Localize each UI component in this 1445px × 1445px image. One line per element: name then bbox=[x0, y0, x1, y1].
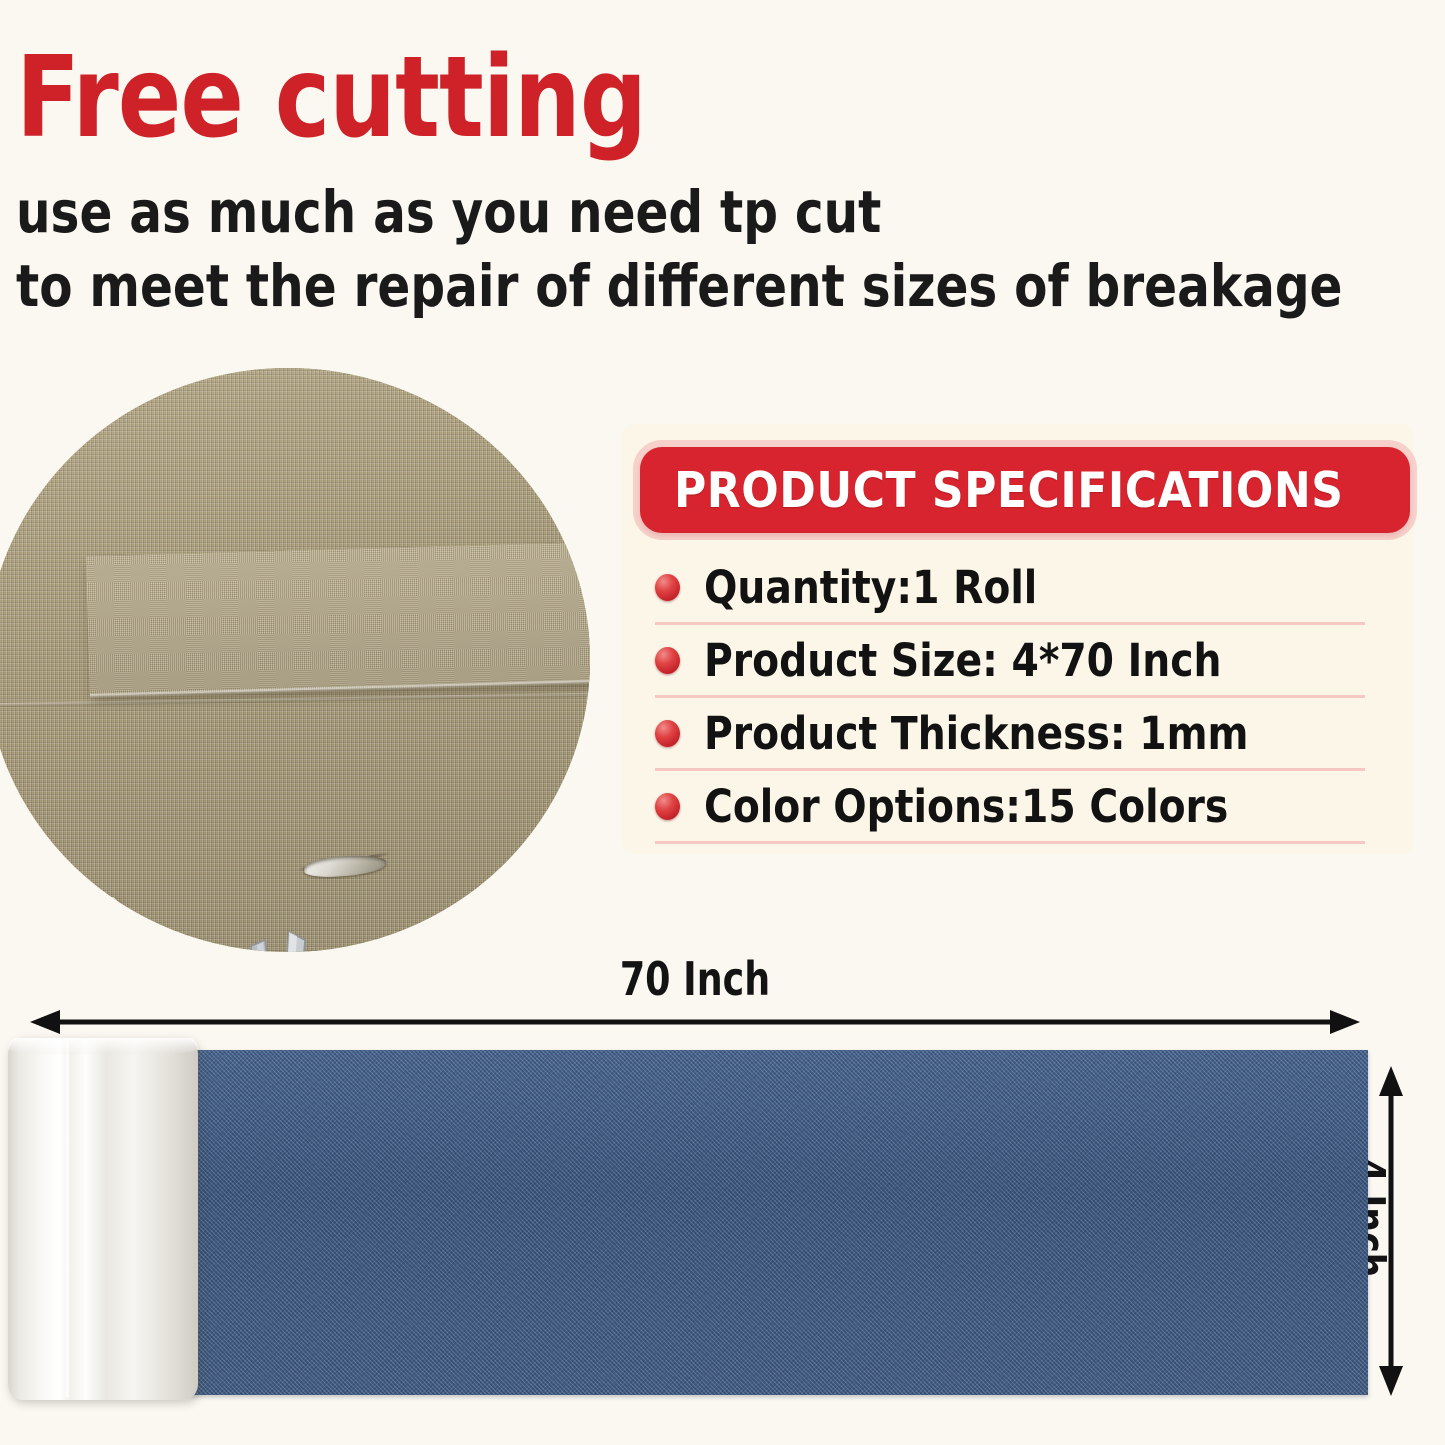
roll-brand-label: CROWN® #513L bbox=[51, 938, 118, 952]
fabric-flap bbox=[86, 541, 590, 696]
subtitle-line-1: use as much as you need tp cut bbox=[16, 176, 1337, 250]
roll-brand-label: CROWN® #513L bbox=[0, 902, 62, 920]
bullet-dot-icon bbox=[655, 720, 680, 747]
headline-block: Free cutting use as much as you need tp … bbox=[16, 42, 1436, 323]
spec-item: Quantity:1 Roll bbox=[655, 552, 1365, 625]
spec-item-label: Quantity:1 Roll bbox=[704, 561, 1037, 614]
product-infographic: Free cutting use as much as you need tp … bbox=[0, 0, 1445, 1445]
spec-item: Color Options:15 Colors bbox=[655, 771, 1365, 844]
bullet-dot-icon bbox=[655, 574, 680, 601]
bullet-dot-icon bbox=[655, 793, 680, 820]
spec-item: Product Size: 4*70 Inch bbox=[655, 625, 1365, 698]
specifications-banner-title: PRODUCT SPECIFICATIONS bbox=[674, 462, 1344, 519]
specifications-list: Quantity:1 Roll Product Size: 4*70 Inch … bbox=[655, 552, 1365, 844]
length-dimension-label: 70 Inch bbox=[83, 952, 1306, 1006]
fabric-roll bbox=[8, 1038, 198, 1400]
page-title: Free cutting bbox=[16, 42, 1337, 154]
repair-tape-roll-photo: CROWN® #513L CROWN® #513L CROWN® #513L C… bbox=[0, 897, 122, 952]
spec-item: Product Thickness: 1mm bbox=[655, 698, 1365, 771]
spec-item-label: Color Options:15 Colors bbox=[704, 780, 1228, 833]
spec-item-label: Product Thickness: 1mm bbox=[704, 707, 1248, 760]
roll-brand-label: CROWN® #513L bbox=[24, 920, 91, 938]
horizontal-dimension-arrow bbox=[30, 1009, 1360, 1035]
bullet-dot-icon bbox=[655, 647, 680, 674]
cutting-demo-photo: CROWN® #513L CROWN® #513L CROWN® #513L C… bbox=[0, 368, 590, 952]
specifications-banner: PRODUCT SPECIFICATIONS bbox=[640, 447, 1410, 533]
scissors-icon bbox=[181, 928, 381, 952]
subtitle-line-2: to meet the repair of different sizes of… bbox=[16, 250, 1337, 324]
spec-item-label: Product Size: 4*70 Inch bbox=[704, 634, 1221, 687]
blue-fabric-strip bbox=[190, 1050, 1368, 1395]
